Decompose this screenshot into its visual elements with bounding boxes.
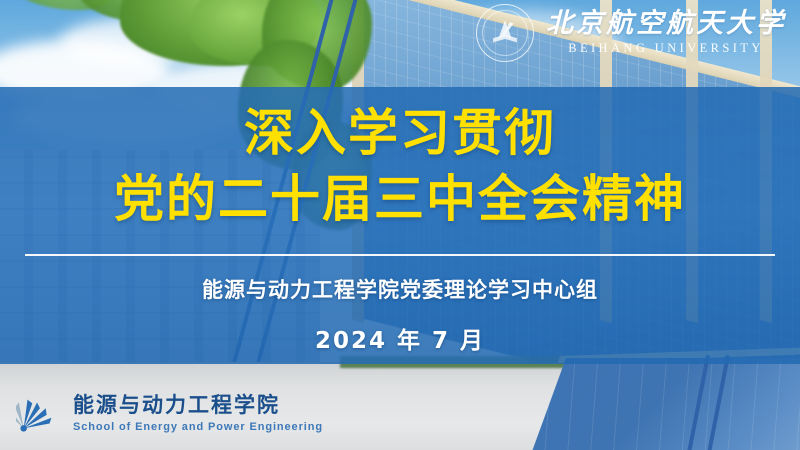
school-name-en: School of Energy and Power Engineering bbox=[73, 421, 323, 433]
university-name-en: BEIHANG UNIVERSITY bbox=[568, 41, 764, 56]
school-logo: 能源与动力工程学院 School of Energy and Power Eng… bbox=[16, 390, 323, 436]
glass-building-bottom-right bbox=[519, 358, 800, 450]
school-name-cn: 能源与动力工程学院 bbox=[73, 393, 323, 417]
title-divider bbox=[25, 254, 775, 256]
presentation-date: 2024 年 7 月 bbox=[0, 321, 800, 355]
university-name-cn: 北京航空航天大学 bbox=[546, 10, 786, 38]
title-line-2: 党的二十届三中全会精神 bbox=[0, 166, 800, 232]
turbine-blade-leaf-icon bbox=[16, 390, 62, 436]
school-logo-text: 能源与动力工程学院 School of Energy and Power Eng… bbox=[73, 393, 323, 432]
slide-title: 深入学习贯彻 党的二十届三中全会精神 bbox=[0, 100, 800, 232]
slide-subtitle: 能源与动力工程学院党委理论学习中心组 2024 年 7 月 bbox=[0, 274, 800, 355]
organization-name: 能源与动力工程学院党委理论学习中心组 bbox=[0, 274, 800, 304]
presentation-title-slide: 北京航空航天大学 BEIHANG UNIVERSITY 深入学习贯彻 党的二十届… bbox=[0, 0, 800, 450]
title-line-1: 深入学习贯彻 bbox=[0, 100, 800, 166]
university-brand: 北京航空航天大学 BEIHANG UNIVERSITY bbox=[476, 4, 786, 62]
beihang-university-seal-icon bbox=[476, 4, 534, 62]
university-wordmark: 北京航空航天大学 BEIHANG UNIVERSITY bbox=[546, 10, 786, 55]
